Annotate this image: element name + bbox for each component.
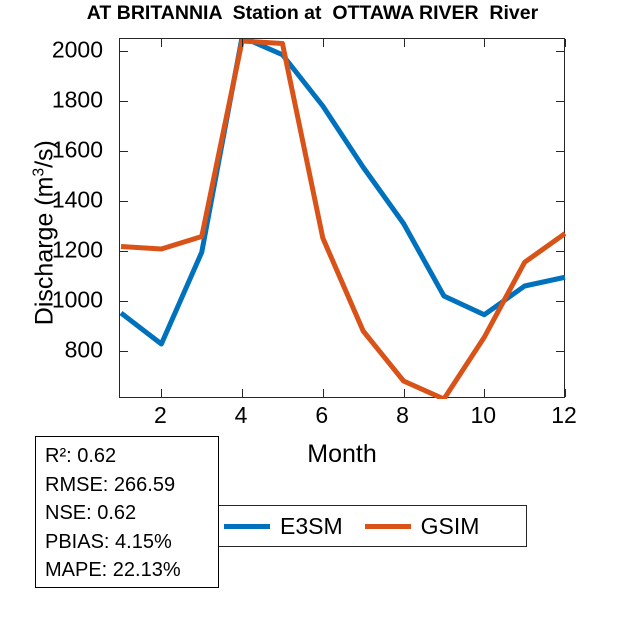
chart-legend: E3SM GSIM <box>216 505 527 547</box>
y-tick-mark-right <box>556 151 564 152</box>
legend-swatch-e3sm <box>224 524 270 529</box>
y-tick-mark <box>120 101 128 102</box>
y-tick-label: 1600 <box>52 137 103 164</box>
y-tick-mark <box>120 151 128 152</box>
x-tick-mark-top <box>565 39 566 47</box>
y-tick-mark-right <box>556 301 564 302</box>
x-tick-label: 12 <box>551 402 577 429</box>
legend-entry-e3sm: E3SM <box>224 506 343 546</box>
x-tick-mark <box>484 389 485 397</box>
x-tick-mark-top <box>242 39 243 47</box>
x-tick-mark-top <box>404 39 405 47</box>
y-tick-mark-right <box>556 351 564 352</box>
y-tick-mark <box>120 301 128 302</box>
x-tick-label: 4 <box>235 402 248 429</box>
y-tick-mark-right <box>556 201 564 202</box>
legend-swatch-gsim <box>365 524 411 529</box>
x-axis-tick-labels: 24681012 <box>119 402 565 436</box>
metric-nse: NSE: 0.62 <box>45 499 218 528</box>
y-tick-mark <box>120 201 128 202</box>
x-tick-mark-top <box>484 39 485 47</box>
y-tick-mark-right <box>556 251 564 252</box>
metric-rmse: RMSE: 266.59 <box>45 471 218 500</box>
y-tick-label: 1000 <box>52 287 103 314</box>
y-tick-label: 1200 <box>52 237 103 264</box>
x-tick-mark <box>161 389 162 397</box>
legend-entry-gsim: GSIM <box>365 506 480 546</box>
y-tick-label: 800 <box>65 337 103 364</box>
series-line-gsim <box>121 41 565 399</box>
legend-label-e3sm: E3SM <box>280 513 343 540</box>
x-tick-label: 8 <box>396 402 409 429</box>
x-tick-mark <box>323 389 324 397</box>
legend-label-gsim: GSIM <box>421 513 480 540</box>
metric-r2: R²: 0.62 <box>45 442 218 471</box>
x-tick-mark-top <box>161 39 162 47</box>
series-line-e3sm <box>121 39 565 344</box>
metric-mape: MAPE: 22.13% <box>45 556 218 585</box>
x-tick-mark <box>565 389 566 397</box>
y-tick-mark-right <box>556 101 564 102</box>
x-tick-mark <box>404 389 405 397</box>
chart-figure: AT BRITANNIA Station at OTTAWA RIVER Riv… <box>0 0 625 625</box>
x-tick-label: 2 <box>154 402 167 429</box>
plot-lines <box>120 39 566 399</box>
y-tick-mark <box>120 251 128 252</box>
x-tick-mark-top <box>323 39 324 47</box>
y-tick-label: 1400 <box>52 187 103 214</box>
metrics-annotation-box: R²: 0.62 RMSE: 266.59 NSE: 0.62 PBIAS: 4… <box>35 436 219 588</box>
y-tick-mark <box>120 51 128 52</box>
x-tick-label: 6 <box>315 402 328 429</box>
y-tick-label: 2000 <box>52 37 103 64</box>
y-tick-mark-right <box>556 51 564 52</box>
y-tick-mark <box>120 351 128 352</box>
x-tick-mark <box>242 389 243 397</box>
x-tick-label: 10 <box>470 402 496 429</box>
y-tick-label: 1800 <box>52 87 103 114</box>
metric-pbias: PBIAS: 4.15% <box>45 528 218 557</box>
plot-area <box>119 38 565 398</box>
